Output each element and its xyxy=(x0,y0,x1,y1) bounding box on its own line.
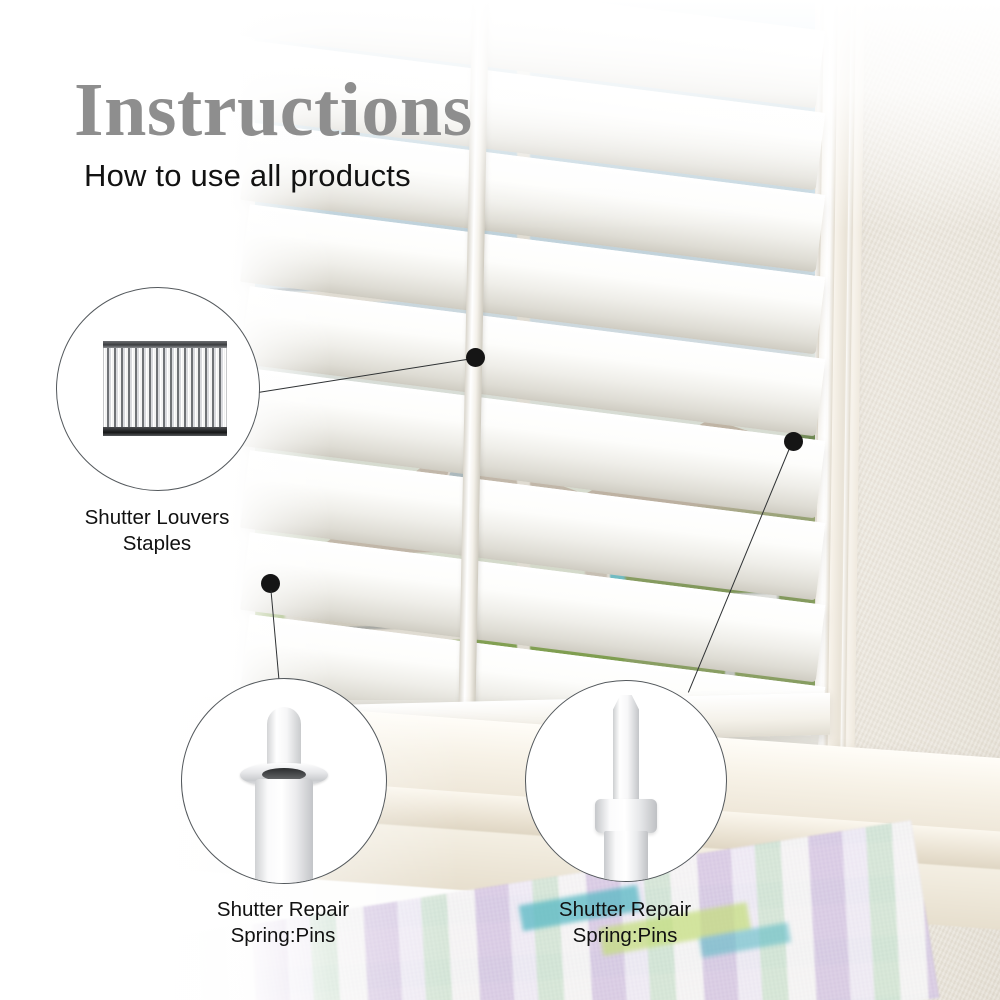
marker-dot xyxy=(784,432,803,451)
marker-dot xyxy=(466,348,485,367)
staple-strip-icon xyxy=(103,341,227,436)
callout-bubble[interactable] xyxy=(181,678,387,884)
callout-caption: Shutter Louvers Staples xyxy=(27,505,287,557)
callout-caption: Shutter Repair Spring:Pins xyxy=(495,897,755,949)
page-subtitle: How to use all products xyxy=(84,158,411,194)
spring-pin-tapered-icon xyxy=(568,695,684,882)
page-title: Instructions xyxy=(74,72,473,148)
instructions-graphic: Instructions How to use all products Shu… xyxy=(0,0,1000,1000)
callout-bubble[interactable] xyxy=(56,287,260,491)
callout-caption: Shutter Repair Spring:Pins xyxy=(153,897,413,949)
spring-pin-barrel-icon xyxy=(226,707,342,884)
callout-bubble[interactable] xyxy=(525,680,727,882)
